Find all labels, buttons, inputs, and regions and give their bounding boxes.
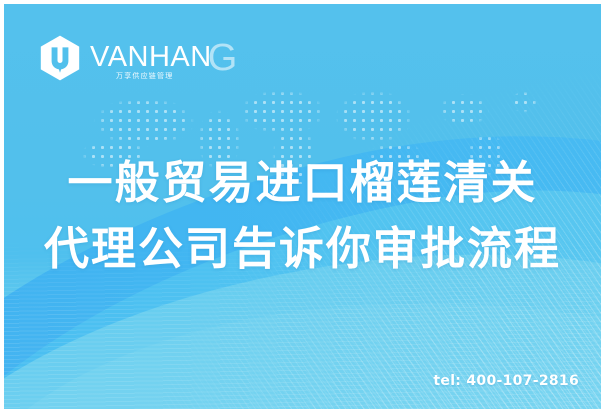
brand-subtitle: 万享供应链管理 [116,73,173,80]
brand-wordmark-g: G [208,37,238,79]
brand-logo: VANHANG 万享供应链管理 [38,34,238,82]
vanhang-hexagon-icon [38,34,82,82]
brand-wordmark: VANHANG 万享供应链管理 [90,39,238,77]
headline-line-1: 一般贸易进口榴莲清关 [4,150,601,216]
headline-block: 一般贸易进口榴莲清关 代理公司告诉你审批流程 [4,150,601,282]
contact-phone: tel: 400-107-2816 [433,373,579,389]
promo-banner: VANHANG 万享供应链管理 一般贸易进口榴莲清关 代理公司告诉你审批流程 t… [0,0,605,413]
headline-line-2: 代理公司告诉你审批流程 [4,216,601,282]
